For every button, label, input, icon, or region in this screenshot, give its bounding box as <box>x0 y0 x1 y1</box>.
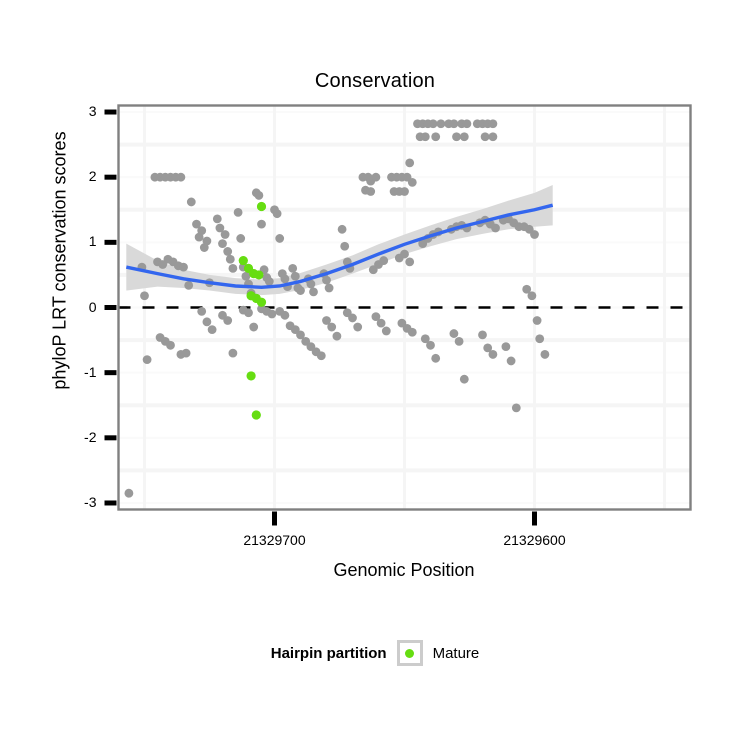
data-point <box>281 311 290 320</box>
x-tick-label: 21329700 <box>215 532 335 548</box>
data-point <box>431 132 440 141</box>
data-point <box>275 234 284 243</box>
data-point <box>325 284 334 293</box>
data-point <box>184 281 193 290</box>
data-point <box>377 319 386 328</box>
data-point <box>528 291 537 300</box>
data-point <box>281 274 290 283</box>
data-point <box>489 350 498 359</box>
y-tick-label: 2 <box>67 168 97 184</box>
data-point <box>249 323 258 332</box>
legend-dot-icon <box>405 649 414 658</box>
data-point <box>179 263 188 272</box>
data-point <box>400 187 409 196</box>
data-point <box>296 286 305 295</box>
legend-title: Hairpin partition <box>271 645 387 662</box>
data-point <box>229 264 238 273</box>
data-point <box>340 242 349 251</box>
y-tick-label: 0 <box>67 299 97 315</box>
data-point <box>512 403 521 412</box>
conservation-scatter-plot <box>0 0 750 750</box>
data-point-mature <box>252 410 261 419</box>
data-point <box>223 316 232 325</box>
y-tick-label: -2 <box>67 429 97 445</box>
data-point <box>460 375 469 384</box>
data-point <box>242 272 251 281</box>
y-tick-label: 1 <box>67 233 97 249</box>
data-point <box>450 329 459 338</box>
data-point <box>489 119 498 128</box>
data-point <box>348 314 357 323</box>
data-point <box>379 256 388 265</box>
data-point <box>429 119 438 128</box>
legend-label-mature: Mature <box>433 645 480 662</box>
data-point <box>197 226 206 235</box>
data-point-mature <box>257 298 266 307</box>
data-point <box>244 308 253 317</box>
data-point <box>421 132 430 141</box>
x-tick-label: 21329600 <box>475 532 595 548</box>
data-point <box>338 225 347 234</box>
data-point <box>533 316 542 325</box>
data-point <box>431 354 440 363</box>
data-point <box>177 173 186 182</box>
data-point <box>353 323 362 332</box>
x-axis-label: Genomic Position <box>118 560 690 581</box>
y-tick-label: 3 <box>67 103 97 119</box>
data-point <box>143 355 152 364</box>
data-point-mature <box>257 202 266 211</box>
data-point <box>481 132 490 141</box>
data-point <box>366 187 375 196</box>
data-point-mature <box>247 371 256 380</box>
data-point <box>268 310 277 319</box>
data-point <box>382 327 391 336</box>
legend-key-mature[interactable] <box>397 640 423 666</box>
data-point <box>140 291 149 300</box>
data-point <box>229 349 238 358</box>
data-point <box>223 247 232 256</box>
data-point <box>489 132 498 141</box>
data-point <box>124 489 133 498</box>
data-point <box>288 264 297 273</box>
data-point <box>327 323 336 332</box>
y-tick-label: -1 <box>67 364 97 380</box>
data-point <box>187 198 196 207</box>
data-point <box>236 234 245 243</box>
data-point <box>463 119 472 128</box>
data-point <box>535 334 544 343</box>
data-point <box>491 224 500 233</box>
data-point <box>400 250 409 259</box>
data-point <box>322 276 331 285</box>
data-point <box>221 230 230 239</box>
data-point <box>437 119 446 128</box>
data-point <box>478 330 487 339</box>
data-point <box>460 132 469 141</box>
data-point <box>265 277 274 286</box>
data-point <box>255 191 264 200</box>
data-point <box>218 239 227 248</box>
data-point <box>203 317 212 326</box>
y-tick-label: -3 <box>67 494 97 510</box>
data-point <box>450 119 459 128</box>
data-point <box>541 350 550 359</box>
data-point <box>208 325 217 334</box>
data-point <box>455 337 464 346</box>
data-point <box>203 237 212 246</box>
data-point <box>530 230 539 239</box>
chart-page: Conservation phyloP LRT conservation sco… <box>0 0 750 750</box>
data-point <box>234 208 243 217</box>
data-point <box>426 341 435 350</box>
data-point <box>405 158 414 167</box>
data-point <box>333 332 342 341</box>
data-point-mature <box>239 256 248 265</box>
data-point <box>408 328 417 337</box>
data-point-mature <box>254 270 263 279</box>
data-point <box>507 357 516 366</box>
data-point <box>372 173 381 182</box>
data-point <box>213 214 222 223</box>
data-point <box>405 257 414 266</box>
data-point <box>273 209 282 218</box>
data-point <box>502 342 511 351</box>
legend: Hairpin partition Mature <box>0 640 750 666</box>
data-point <box>197 307 206 316</box>
data-point <box>166 341 175 350</box>
data-point <box>257 220 266 229</box>
data-point <box>452 132 461 141</box>
data-point <box>408 178 417 187</box>
data-point <box>291 272 300 281</box>
data-point <box>182 349 191 358</box>
data-point <box>226 255 235 264</box>
data-point <box>317 351 326 360</box>
data-point <box>309 287 318 296</box>
